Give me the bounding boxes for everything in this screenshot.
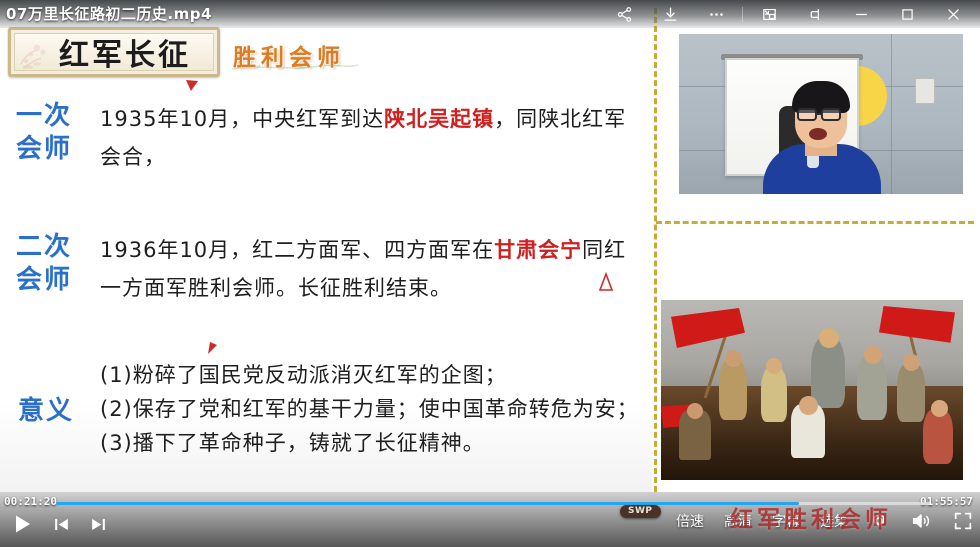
annotation-mark-icon [184,78,200,92]
soldier-figure-left2 [761,366,787,422]
row1-highlight-1: 陕北吴起镇 [384,107,494,131]
play-icon [10,512,34,536]
fullscreen-button[interactable] [952,510,974,532]
fullscreen-icon [952,510,974,532]
row-label-first-meeting: 一次 会师 [16,100,72,166]
player-options: 倍速 高清 字幕 选集 [676,510,974,532]
soldier-head-right [864,346,882,364]
slide-canvas: 红军长征 胜利会师 一次 会师 1935年10月，中央红军到达陕北吴起镇，同陕北… [0,0,980,547]
maximize-icon [899,6,916,23]
swp-badge: SWP [620,505,661,518]
cast-sidebar-icon [807,6,824,23]
soldier-head-left2 [766,358,782,374]
titlebar-separator [742,7,743,22]
minimize-icon [853,6,870,23]
soldier-head-front-right [931,400,948,417]
leaf-decoration-icon [230,62,360,72]
row-label-second-meeting: 二次 会师 [16,231,72,297]
video-player-window: 红军长征 胜利会师 一次 会师 1935年10月，中央红军到达陕北吴起镇，同陕北… [0,0,980,547]
row2-label-line2: 会师 [16,264,72,297]
volume-icon [910,510,932,532]
window-button-group [601,0,976,28]
progress-bar[interactable] [56,501,930,505]
soldier-head-right2 [903,354,920,371]
row1-text-1: 1935年10月，中央红军到达 [100,107,384,131]
window-title-bar: 07万里长征路初二历史.mp4 [0,0,980,28]
significance-item-3: (3)播下了革命种子，铸就了长征精神。 [100,426,645,460]
row3-label-line1: 意义 [18,395,74,428]
speed-button[interactable]: 倍速 [676,511,704,531]
gear-icon [868,510,890,532]
row-body-significance: (1)粉碎了国民党反动派消灭红军的企图； (2)保存了党和红军的基干力量；使中国… [100,358,645,460]
row1-label-line2: 会师 [16,133,72,166]
minimize-button[interactable] [838,0,884,28]
close-icon [945,6,962,23]
share-icon [616,6,633,23]
glasses-left-lens [797,108,817,121]
row2-text-1: 1936年10月，红二方面军、四方面军在 [100,238,494,262]
picture-in-picture-icon [761,6,778,23]
previous-button[interactable] [52,515,71,534]
row2-label-line1: 二次 [16,231,72,264]
download-icon [662,6,679,23]
slide-title-text: 红军长征 [11,30,217,74]
picture-in-picture-button[interactable] [746,0,792,28]
wall-seam-3 [891,34,892,194]
close-button[interactable] [930,0,976,28]
more-options-button[interactable] [693,0,739,28]
sidebar-toggle-button[interactable] [792,0,838,28]
row-label-significance: 意义 [18,395,74,428]
playback-controls [10,512,108,536]
significance-item-1: (1)粉碎了国民党反动派消灭红军的企图； [100,358,645,392]
settings-button[interactable] [868,510,890,532]
historical-painting-image[interactable] [661,300,963,480]
window-title: 07万里长征路初二历史.mp4 [6,3,212,24]
more-horizontal-icon [708,6,725,23]
row1-label-line1: 一次 [16,100,72,133]
slide-title-plaque: 红军长征 [8,27,220,77]
volume-button[interactable] [910,510,932,532]
teacher-mouth [809,128,827,140]
quality-button[interactable]: 高清 [724,511,752,531]
current-time-label: 00:21:20 [4,495,57,508]
progress-fill [56,502,799,505]
soldier-head-front [799,396,818,415]
share-button[interactable] [601,0,647,28]
row-body-second-meeting: 1936年10月，红二方面军、四方面军在甘肃会宁同红一方面军胜利会师。长征胜利结… [100,231,645,307]
soldier-head-center [819,328,839,348]
significance-item-2: (2)保存了党和红军的基干力量；使中国革命转危为安； [100,392,645,426]
row2-highlight-1: 甘肃会宁 [494,238,582,262]
glasses-right-lens [821,108,841,121]
soldier-head-left [725,350,742,367]
subtitle-button[interactable]: 字幕 [772,511,800,531]
soldier-head-front-left [687,403,703,419]
annotation-flag-icon [205,340,219,356]
wall-outlet [915,78,935,104]
soldier-figure-left [719,358,747,420]
play-button[interactable] [10,512,34,536]
webcam-video-feed[interactable] [679,34,963,194]
playlist-button[interactable]: 选集 [820,511,848,531]
annotation-triangle-icon [598,272,614,292]
soldier-figure-right2 [897,362,925,422]
divider-horizontal [656,221,974,224]
next-button[interactable] [89,515,108,534]
download-button[interactable] [647,0,693,28]
next-track-icon [89,515,108,534]
divider-vertical [654,8,657,492]
row-body-first-meeting: 1935年10月，中央红军到达陕北吴起镇，同陕北红军会合， [100,100,645,176]
slide-text-area: 红军长征 胜利会师 一次 会师 1935年10月，中央红军到达陕北吴起镇，同陕北… [0,0,652,492]
maximize-button[interactable] [884,0,930,28]
glasses-bridge [817,113,823,115]
previous-track-icon [52,515,71,534]
player-control-bar: 00:21:20 01:55:57 [0,492,980,547]
